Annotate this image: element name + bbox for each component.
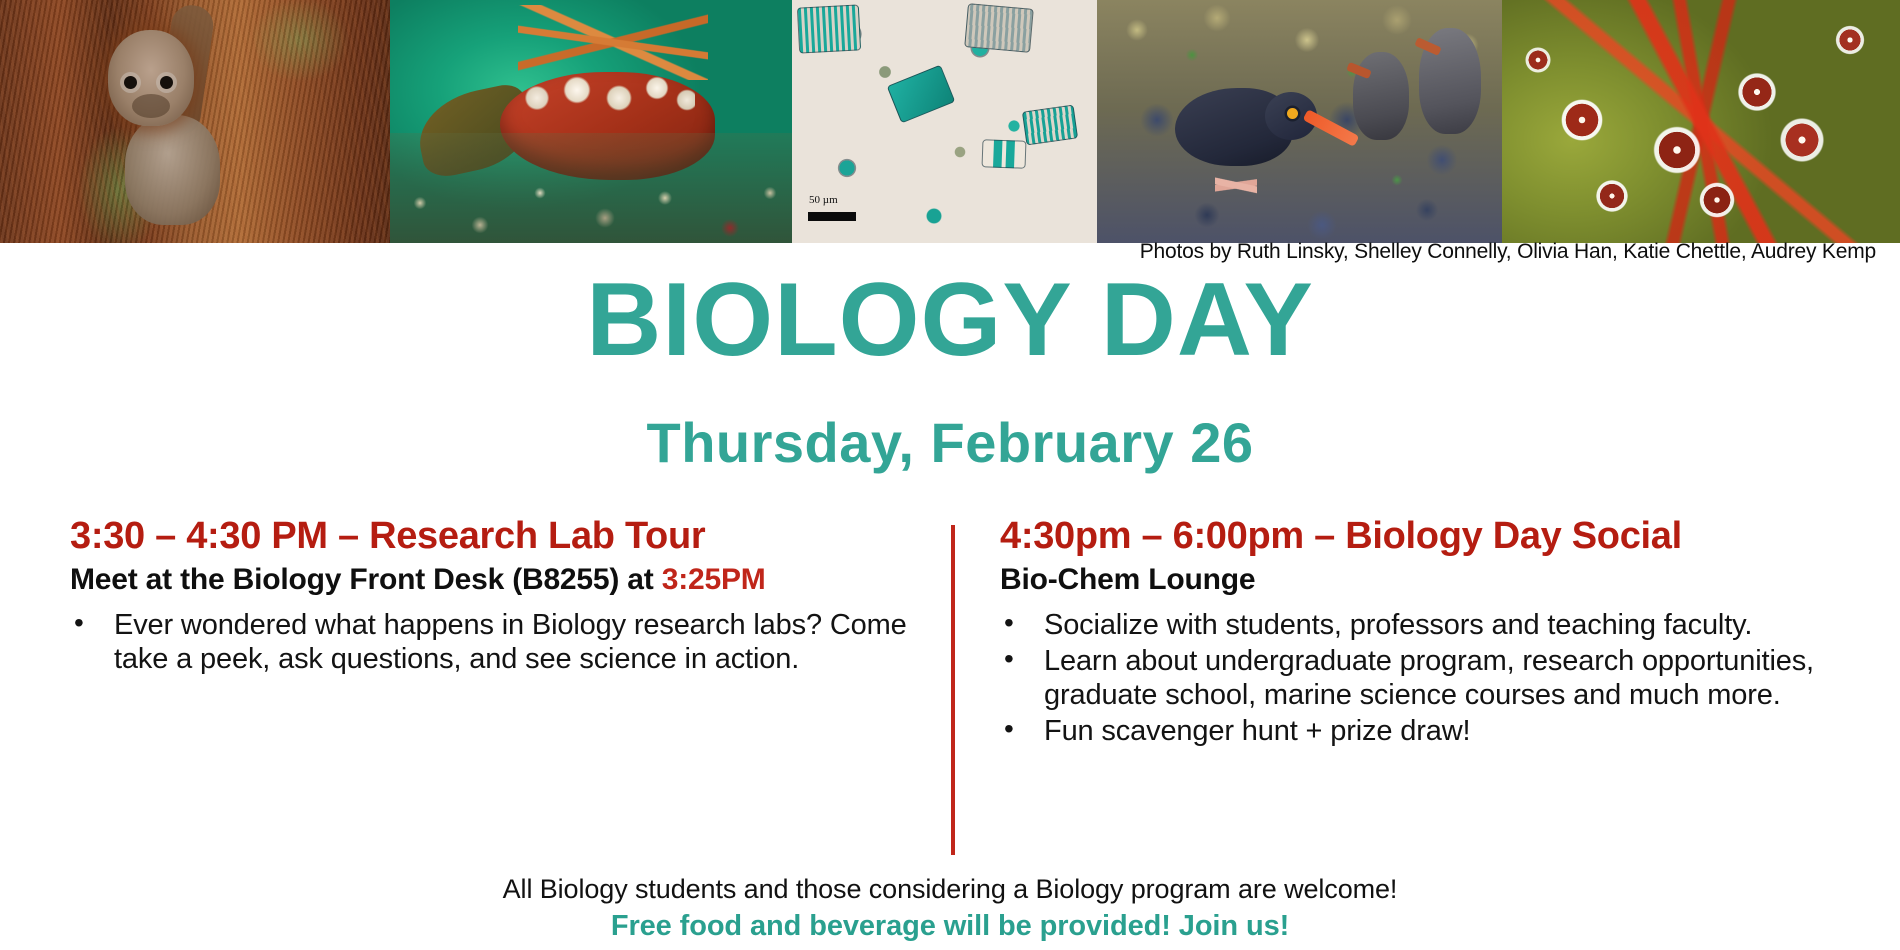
diatom-microscopy-photo: 50 µm [792, 0, 1097, 243]
list-item: Fun scavenger hunt + prize draw! [1000, 714, 1840, 748]
meeting-time: 3:25PM [662, 563, 766, 596]
scale-bar [808, 212, 856, 221]
diatom-frustule [797, 4, 861, 53]
lab-tour-heading: 3:30 – 4:30 PM – Research Lab Tour [70, 515, 930, 558]
welcome-note: All Biology students and those consideri… [0, 874, 1900, 905]
diatom-frustule [982, 139, 1027, 169]
orangutan-body [125, 115, 220, 225]
diatom-frustule [887, 65, 956, 124]
lab-tour-bullets: Ever wondered what happens in Biology re… [70, 608, 930, 676]
biology-day-poster: 50 µm Photos by Ruth Linsky, Shelley Con… [0, 0, 1900, 950]
diatom-frustule [964, 3, 1034, 53]
reef-rubble [390, 133, 792, 243]
scale-bar-label: 50 µm [809, 194, 838, 206]
oystercatcher-chick [1353, 52, 1409, 140]
orangutan-right-eye [160, 76, 173, 89]
photo-strip: 50 µm [0, 0, 1900, 243]
lab-tour-meeting-point: Meet at the Biology Front Desk (B8255) a… [70, 562, 930, 598]
event-columns: 3:30 – 4:30 PM – Research Lab Tour Meet … [0, 515, 1900, 845]
nudibranch-photo [390, 0, 792, 243]
social-bullets: Socialize with students, professors and … [1000, 608, 1840, 749]
oystercatcher-eye [1287, 108, 1298, 119]
orangutan-left-eye [124, 76, 137, 89]
orangutan-face [108, 30, 194, 126]
sundew-photo [1502, 0, 1900, 243]
lab-tour-column: 3:30 – 4:30 PM – Research Lab Tour Meet … [70, 515, 930, 678]
social-location: Bio-Chem Lounge [1000, 562, 1840, 598]
list-item: Learn about undergraduate program, resea… [1000, 644, 1840, 712]
diatom-frustule [1022, 105, 1078, 146]
orangutan-muzzle [132, 94, 170, 118]
free-food-note: Free food and beverage will be provided!… [0, 910, 1900, 943]
baby-orangutan-photo [0, 0, 390, 243]
nudibranch-cerata [515, 58, 695, 118]
meeting-point-text: Meet at the Biology Front Desk (B8255) a… [70, 563, 662, 596]
list-item: Ever wondered what happens in Biology re… [70, 608, 930, 676]
diatom-frustules [792, 0, 1097, 243]
page-title: BIOLOGY DAY [0, 268, 1900, 372]
photo-credit: Photos by Ruth Linsky, Shelley Connelly,… [1140, 240, 1876, 264]
list-item: Socialize with students, professors and … [1000, 608, 1840, 642]
social-column: 4:30pm – 6:00pm – Biology Day Social Bio… [1000, 515, 1840, 750]
event-date: Thursday, February 26 [0, 410, 1900, 475]
sundew-dew-droplets [1502, 0, 1900, 243]
social-heading: 4:30pm – 6:00pm – Biology Day Social [1000, 515, 1840, 558]
oystercatcher-photo [1097, 0, 1502, 243]
